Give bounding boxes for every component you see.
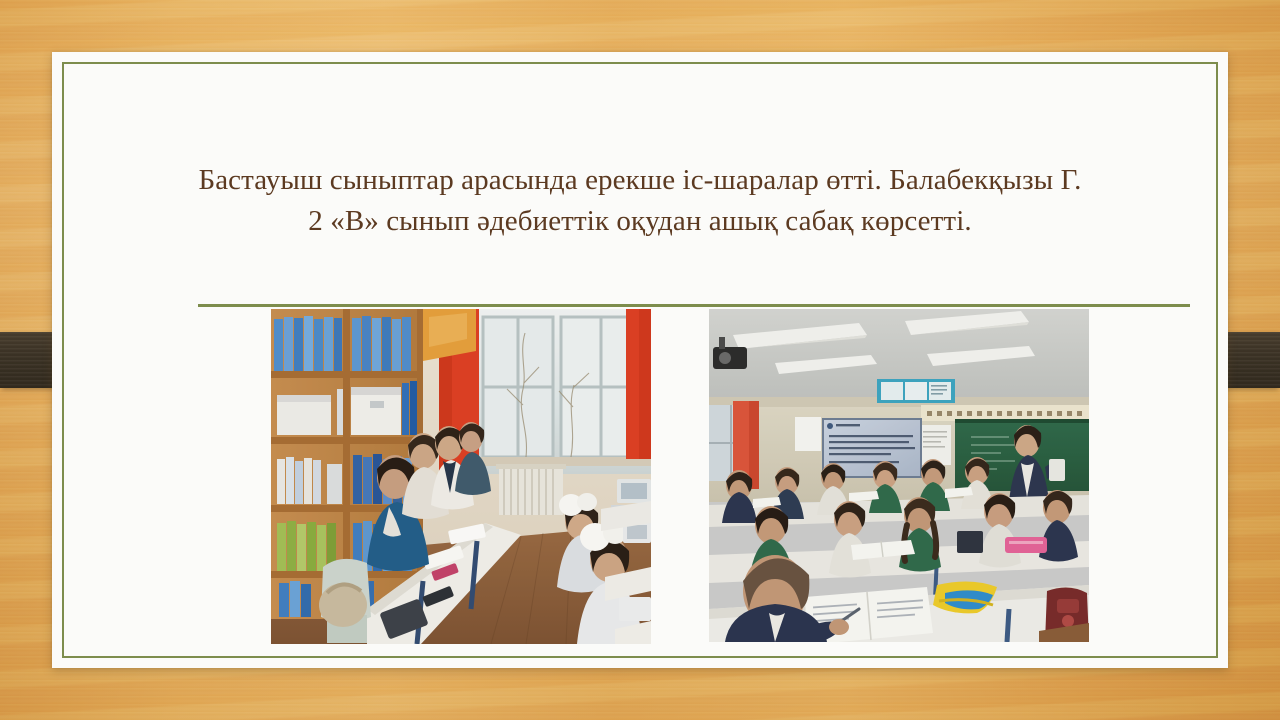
- title-divider: [198, 304, 1190, 307]
- photo-classroom-teachers: [271, 309, 651, 644]
- page-title: Бастауыш сыныптар арасында ерекше іс-шар…: [172, 160, 1108, 242]
- slide-content-card: Бастауыш сыныптар арасында ерекше іс-шар…: [52, 52, 1228, 668]
- photo-classroom-students: [709, 309, 1089, 642]
- slide-stage: Бастауыш сыныптар арасында ерекше іс-шар…: [0, 0, 1280, 720]
